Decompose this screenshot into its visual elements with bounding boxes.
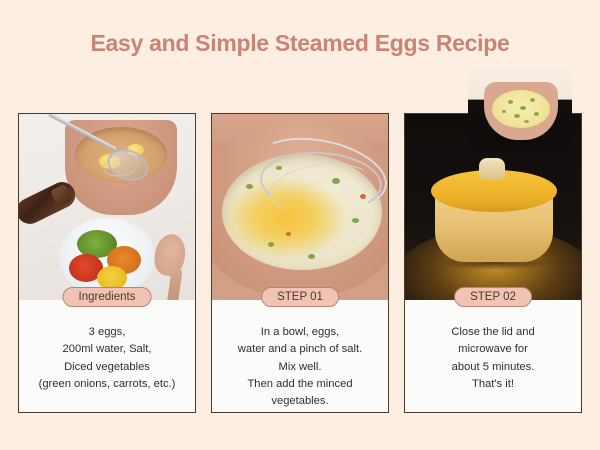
ingredients-photo [19, 114, 195, 300]
herb-garnish [514, 114, 520, 118]
vegetable-fleck [352, 218, 359, 223]
page-title: Easy and Simple Steamed Eggs Recipe [0, 30, 600, 57]
herb-garnish [530, 98, 535, 102]
herb-garnish [520, 106, 526, 110]
finished-dish-photo [468, 68, 572, 146]
pepper-grinder-cap-shape [50, 184, 72, 207]
herb-garnish [534, 112, 539, 116]
pepper-fleck [286, 232, 291, 236]
panel-caption-step-02: Close the lid and microwave for about 5 … [405, 300, 581, 412]
panel-caption-step-01: In a bowl, eggs, water and a pinch of sa… [212, 300, 388, 412]
recipe-panel-step-01: STEP 01 In a bowl, eggs, water and a pin… [211, 113, 389, 413]
wooden-spoon-shape [152, 232, 189, 279]
vegetable-fleck [308, 254, 315, 259]
herb-garnish [508, 100, 513, 104]
vegetable-fleck [268, 242, 274, 247]
panel-badge-ingredients: Ingredients [63, 287, 152, 307]
panel-caption-ingredients: 3 eggs, 200ml water, Salt, Diced vegetab… [19, 300, 195, 412]
pepper-grinder-shape [19, 178, 80, 229]
recipe-panel-ingredients: Ingredients 3 eggs, 200ml water, Salt, D… [18, 113, 196, 413]
herb-garnish [502, 110, 506, 113]
vegetable-fleck [246, 184, 253, 189]
step-01-photo [212, 114, 388, 300]
recipe-panel-step-02: STEP 02 Close the lid and microwave for … [404, 113, 582, 413]
panel-badge-step-01: STEP 01 [261, 287, 339, 307]
recipe-panels: Ingredients 3 eggs, 200ml water, Salt, D… [18, 113, 582, 415]
panel-badge-step-02: STEP 02 [454, 287, 532, 307]
lid-knob-shape [479, 158, 505, 180]
herb-garnish [524, 120, 529, 123]
